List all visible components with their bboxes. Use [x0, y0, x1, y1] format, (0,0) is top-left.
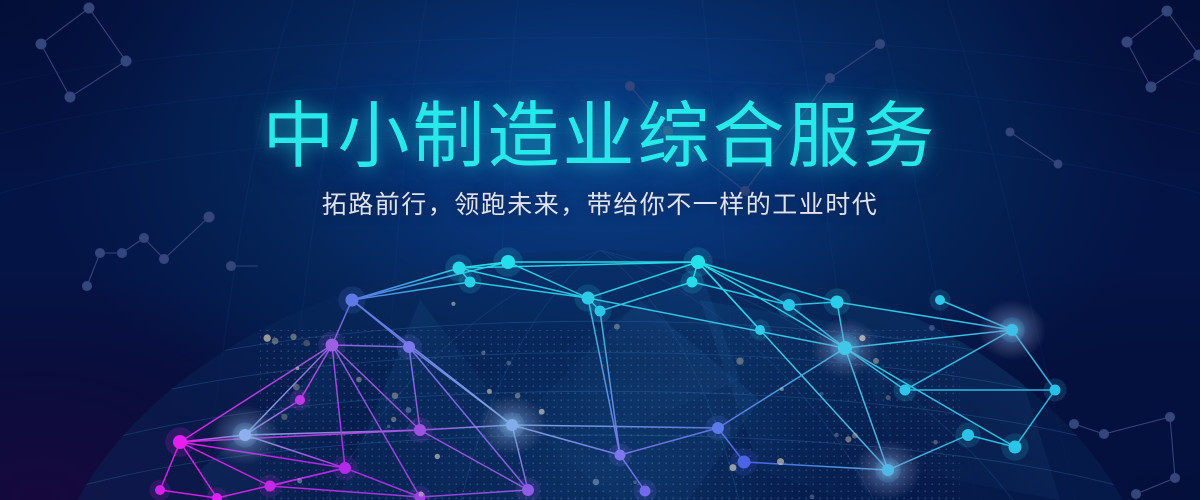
dust-speck [290, 334, 296, 340]
network-node [755, 325, 765, 335]
network-dome-graphic [0, 0, 1200, 500]
dust-speck [933, 440, 938, 445]
network-node [687, 277, 698, 288]
dust-speck [419, 492, 424, 497]
network-node [882, 464, 894, 476]
dome-surface [40, 250, 1160, 500]
network-node [783, 299, 795, 311]
dust-speck [391, 417, 396, 422]
dust-speck [392, 393, 398, 399]
dust-speck [506, 361, 511, 366]
network-node [1006, 324, 1018, 336]
network-node [265, 481, 276, 492]
dust-speck [293, 384, 300, 391]
dust-speck [810, 494, 815, 499]
dust-speck [281, 414, 287, 420]
dust-speck [614, 324, 620, 330]
dust-speck [852, 433, 858, 439]
network-node [691, 255, 705, 269]
dust-speck [593, 479, 600, 486]
network-node [155, 485, 165, 495]
network-node [501, 255, 515, 269]
dust-speck [272, 338, 279, 345]
dust-speck [820, 392, 824, 396]
network-node [738, 456, 751, 469]
network-node [346, 294, 359, 307]
dust-speck [405, 407, 411, 413]
network-node [831, 296, 844, 309]
dust-speck [435, 454, 440, 459]
network-node [506, 419, 518, 431]
network-node [239, 429, 251, 441]
dust-speck [264, 334, 271, 341]
network-node [962, 429, 974, 441]
dust-speck [515, 393, 521, 399]
dust-speck [481, 351, 485, 355]
network-node [522, 484, 534, 496]
dust-speck [845, 436, 851, 442]
dust-speck [487, 389, 492, 394]
dust-speck [633, 480, 637, 484]
dust-speck [387, 425, 390, 428]
dust-speck [886, 395, 891, 400]
dust-speck [777, 458, 784, 465]
dust-speck [729, 464, 736, 471]
network-node [900, 385, 911, 396]
network-node [640, 486, 651, 497]
network-node [1050, 385, 1061, 396]
network-node [339, 462, 351, 474]
hero-banner: 中小制造业综合服务 拓路前行，领跑未来，带给你不一样的工业时代 [0, 0, 1200, 500]
network-node [838, 341, 852, 355]
dust-speck [736, 357, 743, 364]
dust-speck [539, 409, 545, 415]
network-node [595, 306, 606, 317]
dust-speck [451, 302, 455, 306]
dust-speck [859, 335, 865, 341]
network-node [173, 435, 187, 449]
dust-speck [929, 325, 935, 331]
dust-speck [834, 433, 838, 437]
dust-speck [303, 340, 310, 347]
dust-speck [780, 387, 784, 391]
network-node [414, 424, 426, 436]
network-node [712, 422, 724, 434]
network-node [465, 277, 476, 288]
network-node [935, 295, 945, 305]
dust-speck [356, 377, 362, 383]
dust-speck [296, 367, 300, 371]
network-node [403, 341, 415, 353]
network-node [326, 339, 339, 352]
network-node [295, 395, 305, 405]
network-node [1009, 441, 1022, 454]
dust-speck [873, 358, 879, 364]
network-node [615, 450, 626, 461]
dust-speck [297, 478, 302, 483]
